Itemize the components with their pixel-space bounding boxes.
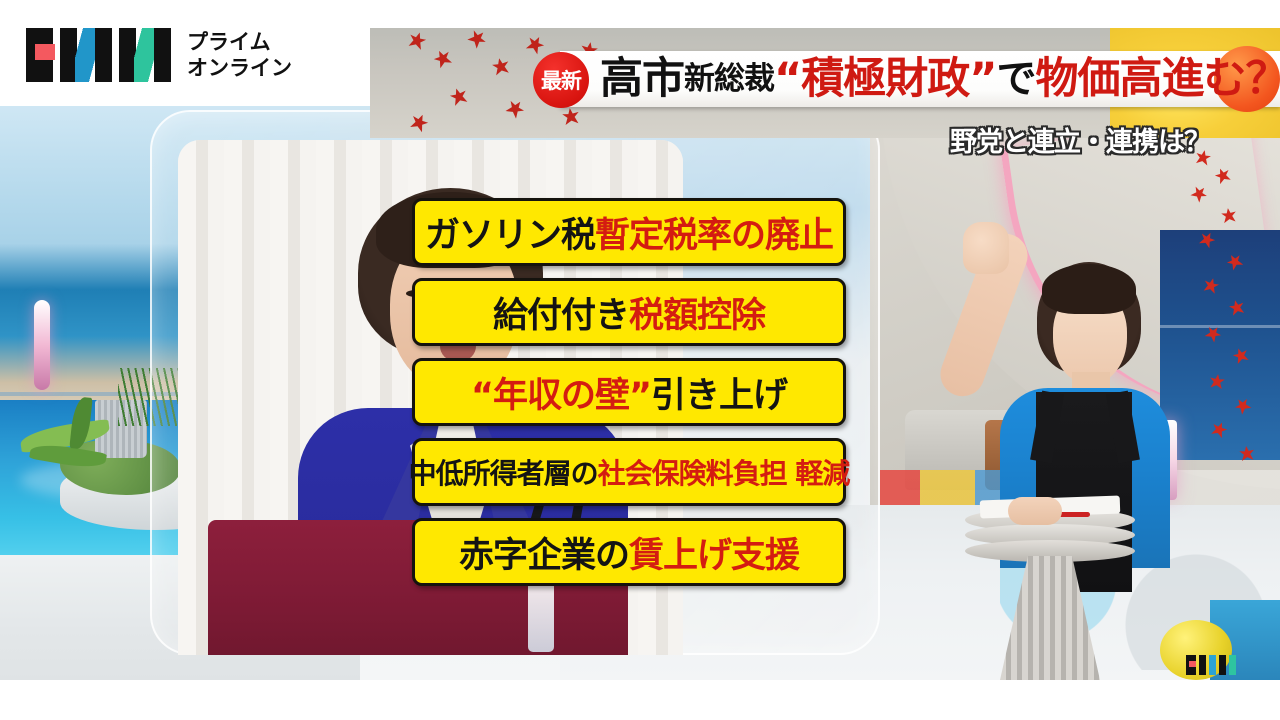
policy-item-5-black: 赤字企業の: [459, 527, 629, 578]
subheadline-text: 野党と連立・連携は？: [950, 120, 1210, 159]
fnn-logo-line1: プライム: [187, 31, 292, 53]
policy-item-2: 給付付き 税額控除: [412, 278, 846, 346]
fnn-logo-letter-n1: [60, 28, 112, 82]
policy-item-3-red: “年収の壁”: [471, 367, 651, 418]
fnn-logo-letter-f: [26, 28, 53, 82]
breaking-news-badge-label: 最新: [541, 65, 581, 95]
policy-item-3: “年収の壁” 引き上げ: [412, 358, 846, 426]
fnn-watermark-icon: [1186, 655, 1240, 675]
policy-item-1-black: ガソリン税: [425, 207, 595, 258]
policy-item-2-black: 給付付き: [493, 287, 629, 338]
fnn-logo-line2: オンライン: [187, 57, 292, 79]
fnn-logo-wordmark: プライム オンライン: [187, 31, 292, 78]
policy-item-5-red: 賃上げ支援: [629, 527, 799, 578]
headline-part-5: 物価高進む？: [1036, 58, 1280, 101]
policy-item-3-black: 引き上げ: [651, 367, 787, 418]
policy-item-4: 中低所得者層の 社会保険料負担 軽減: [412, 438, 846, 506]
fnn-logo-plate: プライム オンライン: [0, 0, 370, 106]
policy-item-1: ガソリン税 暫定税率の廃止: [412, 198, 846, 266]
policy-item-4-red: 社会保険料負担 軽減: [598, 452, 850, 492]
broadcast-screenshot: 最新 高市 新総裁 “積極財政” で 物価高進む？ 野党と連立・連携は？ ガソリ…: [0, 0, 1280, 720]
headline-part-4: で: [997, 59, 1036, 99]
headline-part-2: 新総裁: [684, 64, 774, 95]
studio-lamp-left: [34, 300, 50, 390]
fnn-logo: プライム オンライン: [26, 28, 292, 82]
presenter-hand: [963, 222, 1009, 274]
fnn-logo-letter-n2: [119, 28, 171, 82]
policy-list: ガソリン税 暫定税率の廃止 給付付き 税額控除 “年収の壁” 引き上げ 中低所得…: [412, 198, 846, 598]
headline-part-3: “積極財政”: [774, 58, 997, 101]
palm-leaf: [20, 395, 150, 475]
presenter-fringe: [1042, 264, 1136, 314]
policy-item-5: 赤字企業の 賃上げ支援: [412, 518, 846, 586]
policy-item-2-red: 税額控除: [629, 287, 765, 338]
presenter-hand-on-podium: [1008, 497, 1062, 525]
headline-text: 高市 新総裁 “積極財政” で 物価高進む？: [600, 53, 1230, 105]
breaking-news-badge: 最新: [533, 52, 589, 108]
letterbox-bottom: [0, 680, 1280, 720]
policy-item-4-black: 中低所得者層の: [409, 452, 598, 492]
policy-item-1-red: 暫定税率の廃止: [595, 207, 833, 258]
headline-part-1: 高市: [600, 58, 684, 101]
